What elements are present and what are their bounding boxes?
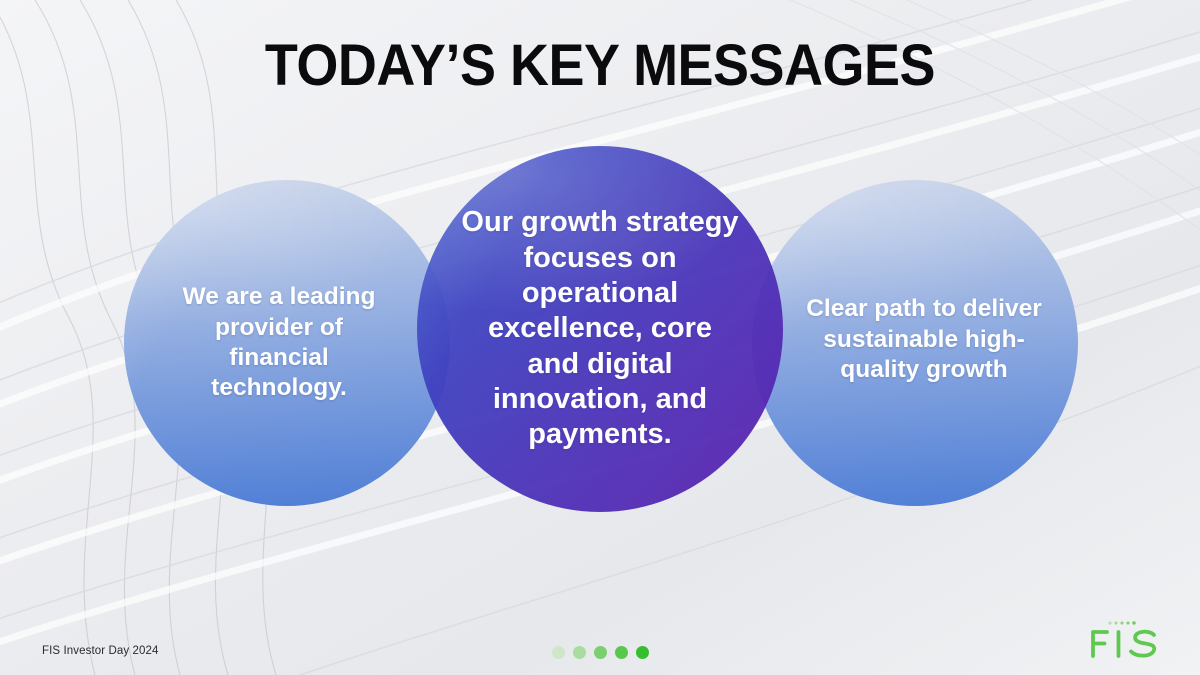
fis-logo	[1088, 615, 1162, 661]
progress-dot-5[interactable]	[636, 646, 649, 659]
venn-circle-right[interactable]: Clear path to deliver sustainable high-q…	[752, 180, 1078, 506]
venn-circle-right-label: Clear path to deliver sustainable high-q…	[799, 294, 1049, 385]
progress-dot-2[interactable]	[573, 646, 586, 659]
venn-diagram: We are a leading provider of financial t…	[0, 0, 1200, 675]
presentation-slide: TODAY’S KEY MESSAGES We are a leading pr…	[0, 0, 1200, 675]
slide-progress-dots[interactable]	[0, 646, 1200, 659]
venn-circle-left[interactable]: We are a leading provider of financial t…	[124, 180, 450, 506]
progress-dot-3[interactable]	[594, 646, 607, 659]
fis-logo-dots	[1108, 621, 1135, 624]
progress-dot-1[interactable]	[552, 646, 565, 659]
venn-circle-center-label: Our growth strategy focuses on operation…	[461, 205, 739, 453]
fis-logo-wordmark	[1093, 632, 1154, 656]
venn-circle-left-label: We are a leading provider of financial t…	[164, 282, 394, 404]
progress-dot-4[interactable]	[615, 646, 628, 659]
venn-circle-center[interactable]: Our growth strategy focuses on operation…	[417, 146, 783, 512]
